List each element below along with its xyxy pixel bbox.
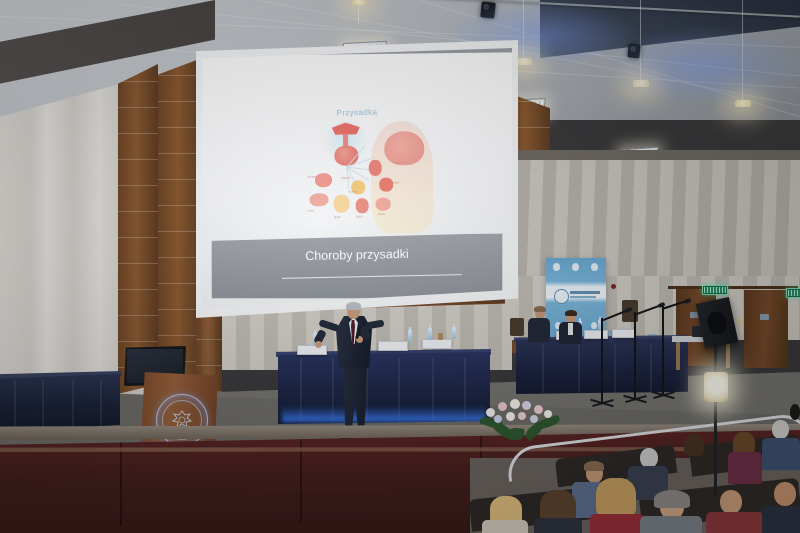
audience-person-body: [762, 506, 800, 533]
name-placard: [422, 339, 452, 349]
audience-person-body: [482, 520, 528, 533]
caption-underline: [282, 274, 462, 279]
crest-icon: [591, 263, 598, 271]
audience-person-hair: [584, 461, 604, 471]
speaker-hand-left: [315, 341, 322, 348]
banner-subtitle: [570, 296, 596, 298]
speaker-hair: [346, 302, 361, 310]
diagram-label: Jajniki: [378, 213, 385, 216]
table-leg: [726, 342, 730, 368]
door-right-2[interactable]: [744, 290, 788, 368]
organ-adrenal: [379, 177, 393, 191]
audience-person-hair: [596, 478, 636, 518]
crest-icon: [591, 322, 597, 329]
mic-stand-pole: [662, 306, 664, 396]
table-leg: [676, 342, 680, 370]
water-bottle: [452, 327, 456, 339]
audience-person-body: [534, 518, 582, 533]
diagram-label: Wątroba: [341, 177, 351, 180]
audience-person-hair: [684, 434, 704, 456]
panelist-1-hair: [534, 306, 546, 312]
name-placard: [612, 329, 636, 338]
light-stand-pole: [714, 400, 717, 495]
door-header-trim: [668, 286, 798, 289]
pendant-light: [352, 0, 366, 5]
diagram-label: Trzustka: [347, 190, 357, 193]
coffee-cup: [438, 333, 443, 340]
panelist-2-shirt: [568, 323, 573, 335]
audience-person-body: [728, 452, 762, 484]
audience-person-body: [706, 512, 764, 533]
presidium-table: [278, 352, 490, 424]
water-bottle: [408, 330, 412, 342]
panelist-2-hair: [565, 310, 577, 316]
crest-icon: [553, 263, 560, 271]
projection-screen: Przysadka: [196, 40, 518, 318]
diagram-label: Jądra: [356, 215, 363, 218]
fire-alarm-icon: [611, 284, 616, 289]
video-ring-light: [704, 372, 728, 402]
audience-person-hair: [654, 490, 690, 508]
organ-thyroid: [315, 173, 332, 187]
mic-stand-pole: [601, 318, 603, 404]
audience-person-head: [774, 482, 796, 506]
name-placard: [584, 330, 608, 339]
water-bottle: [428, 328, 432, 340]
flower-arrangement: [478, 396, 564, 440]
organ-bone: [309, 193, 328, 206]
audience-person-head: [772, 420, 789, 439]
organ-testis: [355, 198, 368, 213]
audience-person-body: [762, 438, 800, 470]
diagram-label: Nerki: [393, 181, 399, 184]
audience-person-head: [640, 448, 658, 468]
wood-wall-column: [118, 64, 158, 394]
audience-person-head: [720, 490, 742, 514]
organ-breast: [333, 195, 349, 213]
chair: [510, 318, 524, 336]
exit-sign: [702, 285, 728, 295]
table-underlight: [282, 406, 486, 422]
university-emblem-icon: [554, 289, 569, 304]
audience-person-head: [790, 404, 800, 420]
audience-person-body: [640, 516, 702, 533]
projected-slide: Przysadka: [202, 48, 512, 308]
blue-ceiling-glow: [600, 26, 800, 106]
audience-person-body: [590, 514, 644, 533]
banner-title: [570, 291, 600, 294]
organ-uterus: [375, 198, 390, 211]
pituitary-diagram: Tarczyca Nadnercza Kości Jądra Jajniki S…: [305, 114, 438, 242]
right-wall-cornice: [505, 150, 800, 160]
crest-icon: [572, 263, 579, 271]
diagram-label: Sutek: [334, 216, 341, 219]
organ-kidney: [369, 160, 382, 176]
lecture-hall-photo: Przysadka: [0, 0, 800, 533]
name-placard: [378, 341, 408, 351]
slide-caption-band: Choroby przysadki: [211, 233, 503, 299]
exit-sign: [786, 288, 800, 298]
slide-caption: Choroby przysadki: [212, 245, 502, 265]
name-placard: [297, 345, 327, 355]
diagram-label: Nadnercza: [393, 161, 406, 164]
diagram-label: Kości: [308, 209, 314, 212]
wall-plate: [760, 314, 769, 320]
diagram-label: Tarczyca: [307, 175, 317, 178]
mic-stand-pole: [634, 312, 636, 400]
side-table-left: [0, 374, 120, 432]
panelist-1-body: [528, 318, 550, 342]
door-handle-icon[interactable]: [738, 318, 741, 326]
